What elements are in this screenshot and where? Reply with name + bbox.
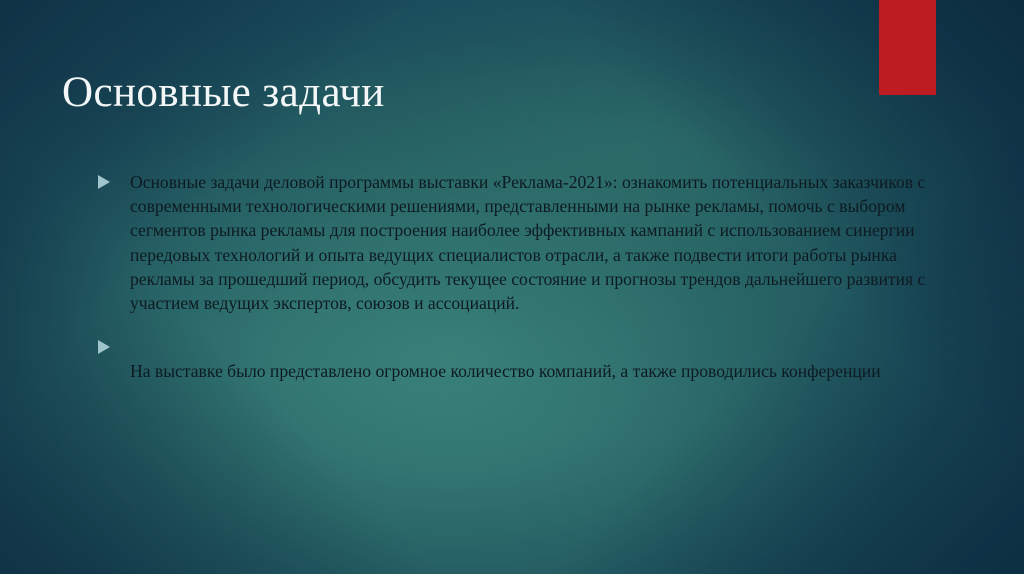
page-title: Основные задачи xyxy=(62,67,842,119)
list-item-text: На выставке было представлено огромное к… xyxy=(130,359,926,383)
triangle-right-bullet-icon xyxy=(98,340,110,354)
presentation-slide: Основные задачи Основные задачи деловой … xyxy=(0,0,1024,574)
blank-line-spacer xyxy=(130,335,926,359)
slide-body-content: Основные задачи деловой программы выстав… xyxy=(96,170,926,384)
list-item-text: Основные задачи деловой программы выстав… xyxy=(130,170,926,315)
accent-bar-red xyxy=(879,0,936,95)
list-item: Основные задачи деловой программы выстав… xyxy=(96,170,926,315)
list-item: На выставке было представлено огромное к… xyxy=(96,335,926,383)
triangle-right-bullet-icon xyxy=(98,175,110,189)
